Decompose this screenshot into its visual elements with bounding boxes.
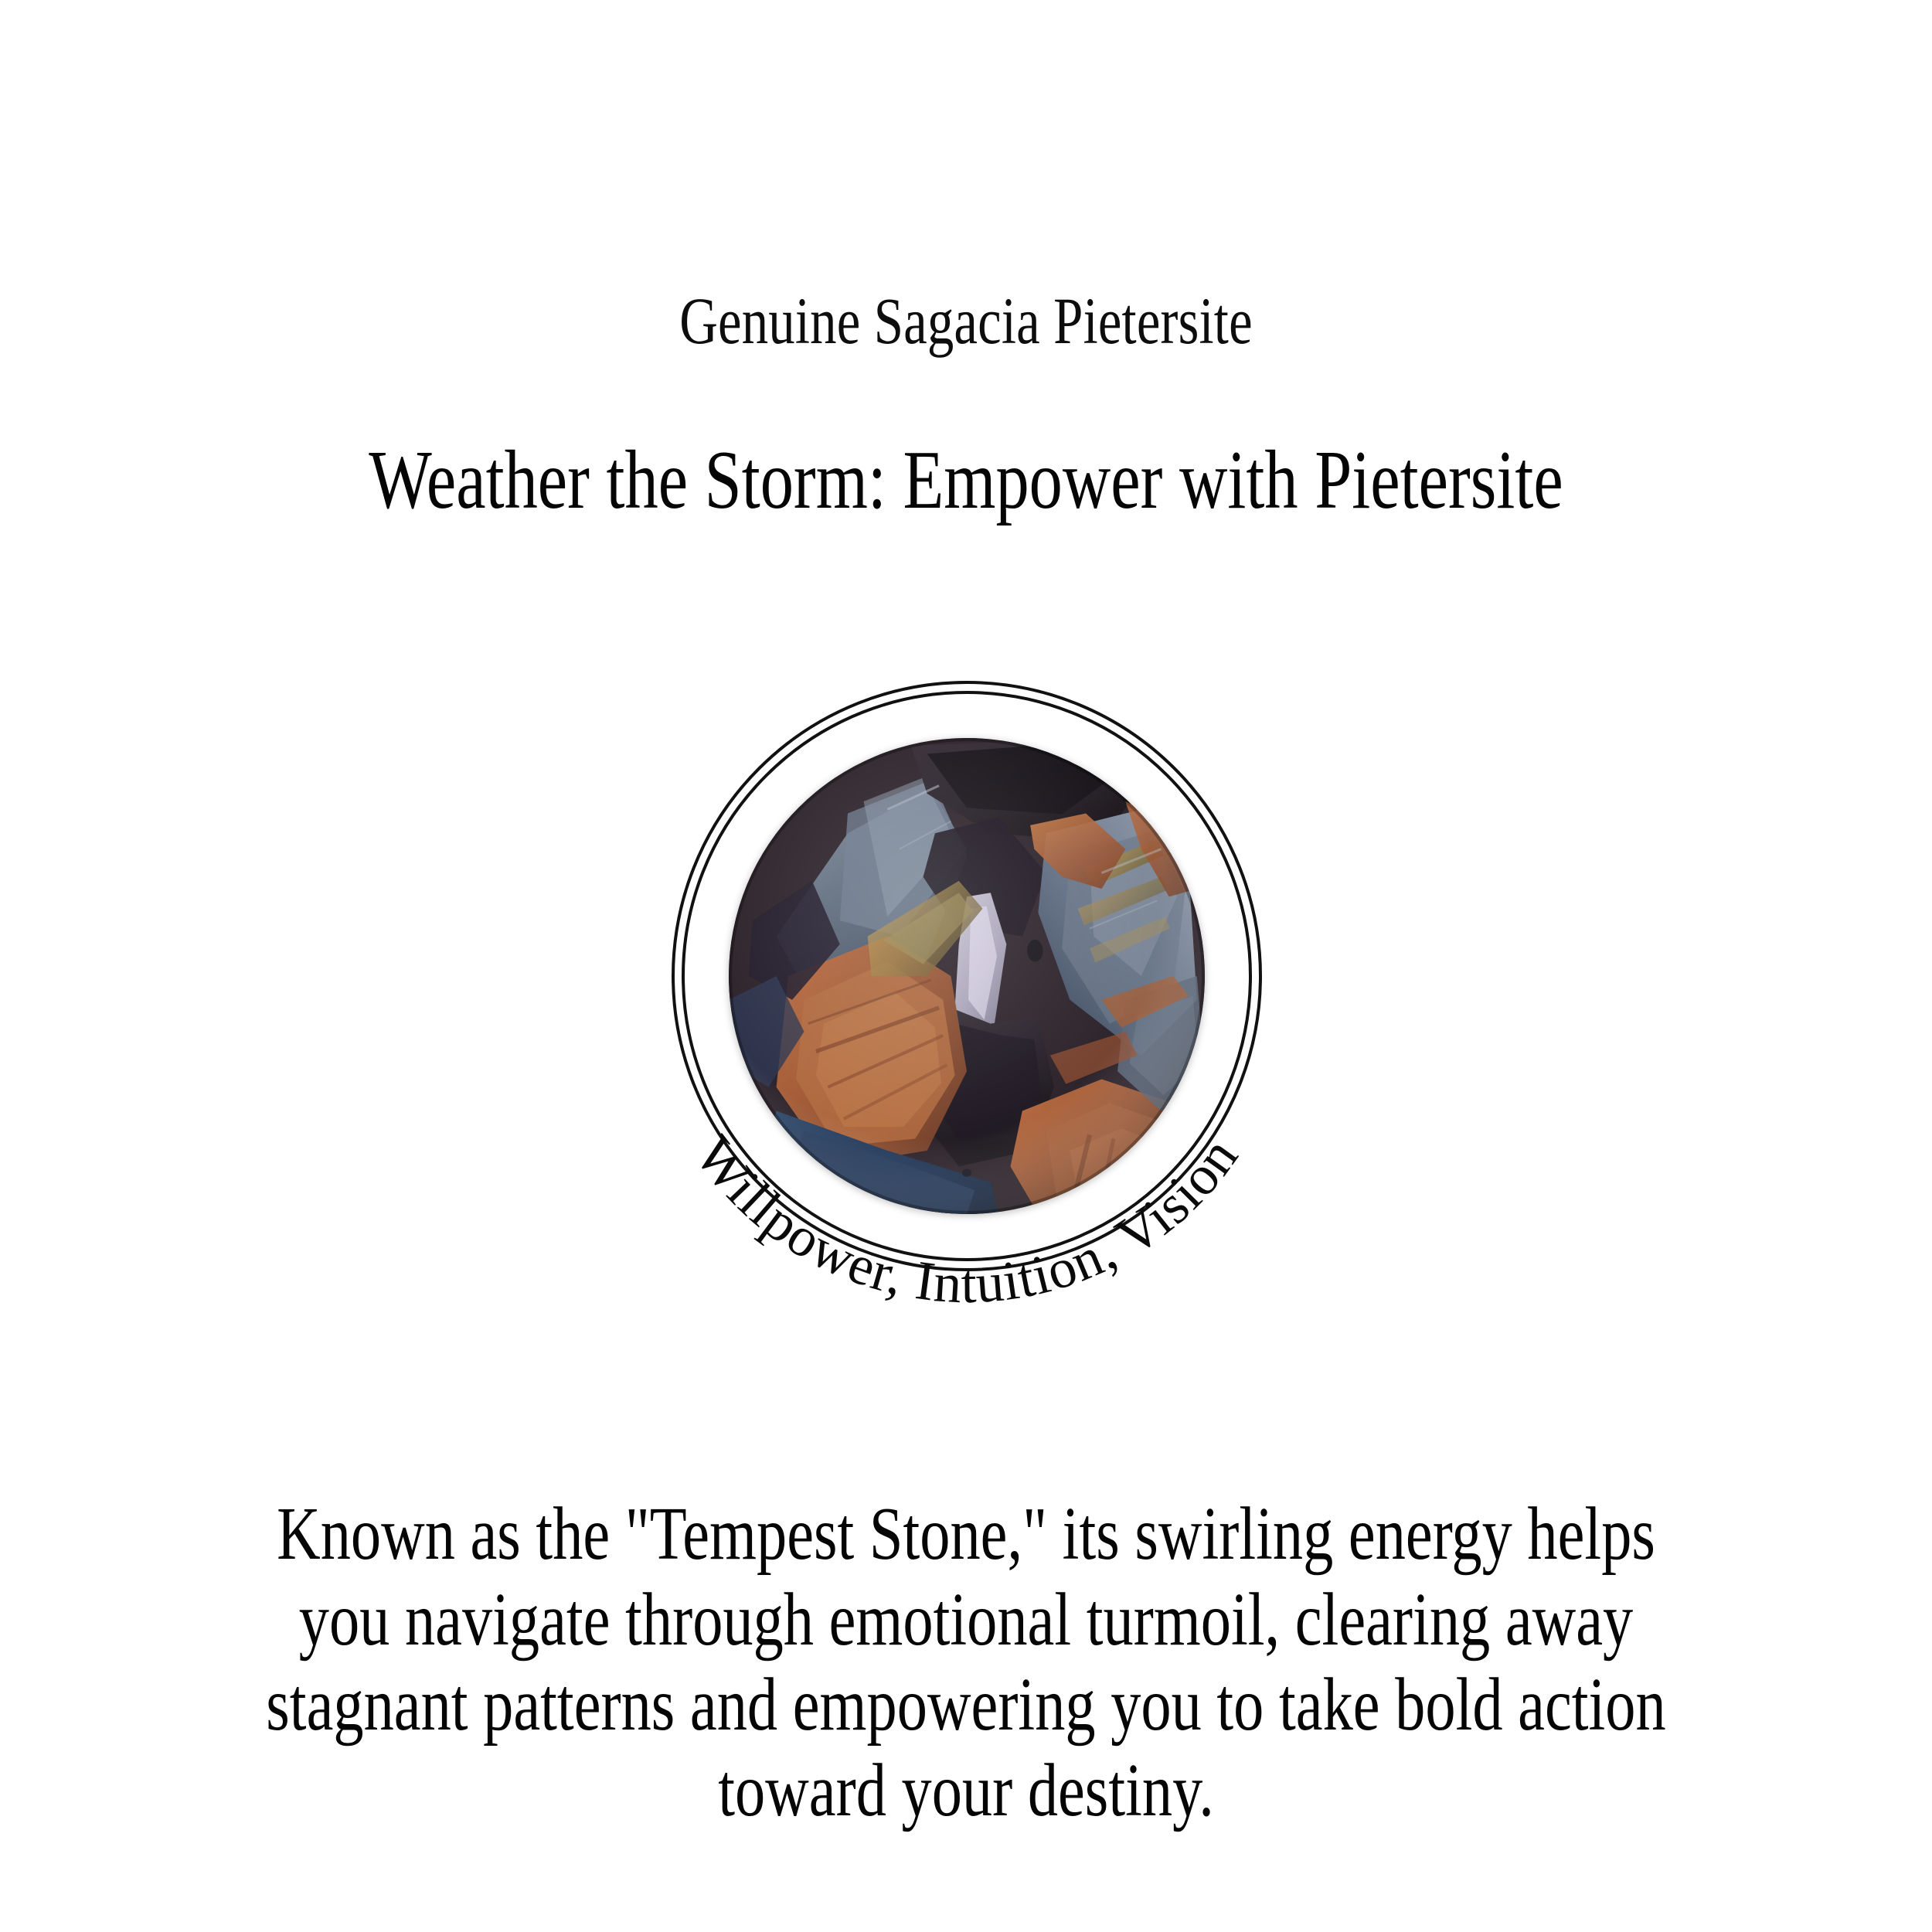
page-title: Weather the Storm: Empower with Pietersi… [348,421,1584,539]
emblem-caption-text: Willpower, Intuition, Vision [683,1125,1250,1315]
product-line-title: Genuine Sagacia Pietersite [193,286,1739,355]
emblem-caption-textpath: Willpower, Intuition, Vision [683,1125,1250,1315]
product-card: Genuine Sagacia Pietersite Weather the S… [0,0,1932,1932]
emblem-caption-arc: Willpower, Intuition, Vision [565,574,1369,1378]
product-description: Known as the "Tempest Stone," its swirli… [230,1492,1702,1834]
